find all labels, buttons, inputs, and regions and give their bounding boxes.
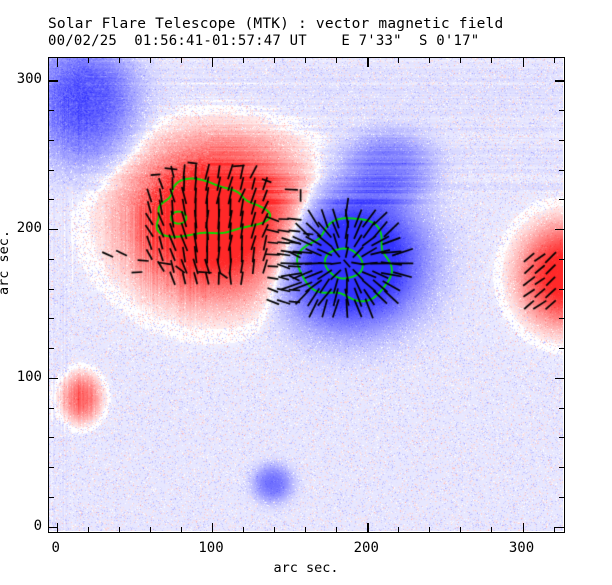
x-minor-tick bbox=[491, 527, 492, 532]
x-minor-tick-top bbox=[119, 58, 120, 63]
x-minor-tick-top bbox=[491, 58, 492, 63]
y-minor-tick bbox=[49, 348, 54, 349]
y-minor-tick-right bbox=[559, 259, 564, 260]
y-major-tick bbox=[49, 527, 58, 528]
y-tick-label: 100 bbox=[6, 369, 42, 385]
x-tick-label: 0 bbox=[52, 540, 60, 556]
magnetogram-image bbox=[49, 58, 563, 531]
x-minor-tick bbox=[305, 527, 306, 532]
x-minor-tick bbox=[150, 527, 151, 532]
x-minor-tick bbox=[398, 527, 399, 532]
y-minor-tick bbox=[49, 110, 54, 111]
x-major-tick bbox=[523, 523, 524, 532]
y-minor-tick-right bbox=[559, 497, 564, 498]
y-minor-tick bbox=[49, 408, 54, 409]
y-minor-tick-right bbox=[559, 170, 564, 171]
y-major-tick-right bbox=[555, 229, 564, 230]
x-major-tick-top bbox=[212, 58, 213, 67]
y-major-tick bbox=[49, 229, 58, 230]
x-minor-tick bbox=[429, 527, 430, 532]
x-minor-tick bbox=[460, 527, 461, 532]
y-minor-tick bbox=[49, 467, 54, 468]
y-minor-tick-right bbox=[559, 140, 564, 141]
y-minor-tick-right bbox=[559, 348, 564, 349]
x-minor-tick-top bbox=[554, 58, 555, 63]
y-minor-tick bbox=[49, 259, 54, 260]
y-axis-title: arc sec. bbox=[0, 230, 12, 295]
x-tick-label: 200 bbox=[354, 540, 379, 556]
x-minor-tick bbox=[274, 527, 275, 532]
y-major-tick-right bbox=[555, 80, 564, 81]
y-minor-tick bbox=[49, 437, 54, 438]
x-major-tick-top bbox=[523, 58, 524, 67]
figure-title: Solar Flare Telescope (MTK) : vector mag… bbox=[48, 16, 588, 33]
x-minor-tick bbox=[119, 527, 120, 532]
x-minor-tick-top bbox=[460, 58, 461, 63]
magnetogram-plot-area bbox=[48, 57, 565, 533]
figure-root: Solar Flare Telescope (MTK) : vector mag… bbox=[0, 0, 612, 585]
y-minor-tick-right bbox=[559, 408, 564, 409]
x-axis-title: arc sec. bbox=[273, 560, 338, 576]
y-minor-tick-right bbox=[559, 110, 564, 111]
x-major-tick bbox=[212, 523, 213, 532]
y-minor-tick bbox=[49, 170, 54, 171]
x-major-tick bbox=[367, 523, 368, 532]
x-minor-tick bbox=[243, 527, 244, 532]
x-minor-tick bbox=[88, 527, 89, 532]
x-minor-tick-top bbox=[305, 58, 306, 63]
x-minor-tick-top bbox=[398, 58, 399, 63]
y-minor-tick-right bbox=[559, 467, 564, 468]
y-major-tick bbox=[49, 378, 58, 379]
y-major-tick bbox=[49, 80, 58, 81]
y-minor-tick-right bbox=[559, 199, 564, 200]
y-minor-tick-right bbox=[559, 289, 564, 290]
y-minor-tick bbox=[49, 318, 54, 319]
x-minor-tick-top bbox=[274, 58, 275, 63]
y-major-tick-right bbox=[555, 378, 564, 379]
x-minor-tick-top bbox=[88, 58, 89, 63]
y-major-tick-right bbox=[555, 527, 564, 528]
x-minor-tick-top bbox=[243, 58, 244, 63]
y-minor-tick-right bbox=[559, 318, 564, 319]
y-minor-tick bbox=[49, 497, 54, 498]
y-tick-label: 0 bbox=[6, 518, 42, 534]
y-minor-tick bbox=[49, 199, 54, 200]
x-major-tick-top bbox=[57, 58, 58, 67]
y-tick-label: 300 bbox=[6, 71, 42, 87]
figure-subtitle: 00/02/25 01:56:41-01:57:47 UT E 7'33" S … bbox=[48, 33, 588, 50]
x-tick-label: 100 bbox=[198, 540, 223, 556]
x-minor-tick bbox=[336, 527, 337, 532]
x-minor-tick-top bbox=[150, 58, 151, 63]
x-minor-tick-top bbox=[429, 58, 430, 63]
y-minor-tick bbox=[49, 289, 54, 290]
x-tick-label: 300 bbox=[509, 540, 534, 556]
y-minor-tick bbox=[49, 140, 54, 141]
x-minor-tick-top bbox=[181, 58, 182, 63]
figure-title-block: Solar Flare Telescope (MTK) : vector mag… bbox=[48, 16, 588, 50]
x-major-tick-top bbox=[367, 58, 368, 67]
x-minor-tick bbox=[181, 527, 182, 532]
x-minor-tick-top bbox=[336, 58, 337, 63]
y-minor-tick-right bbox=[559, 437, 564, 438]
